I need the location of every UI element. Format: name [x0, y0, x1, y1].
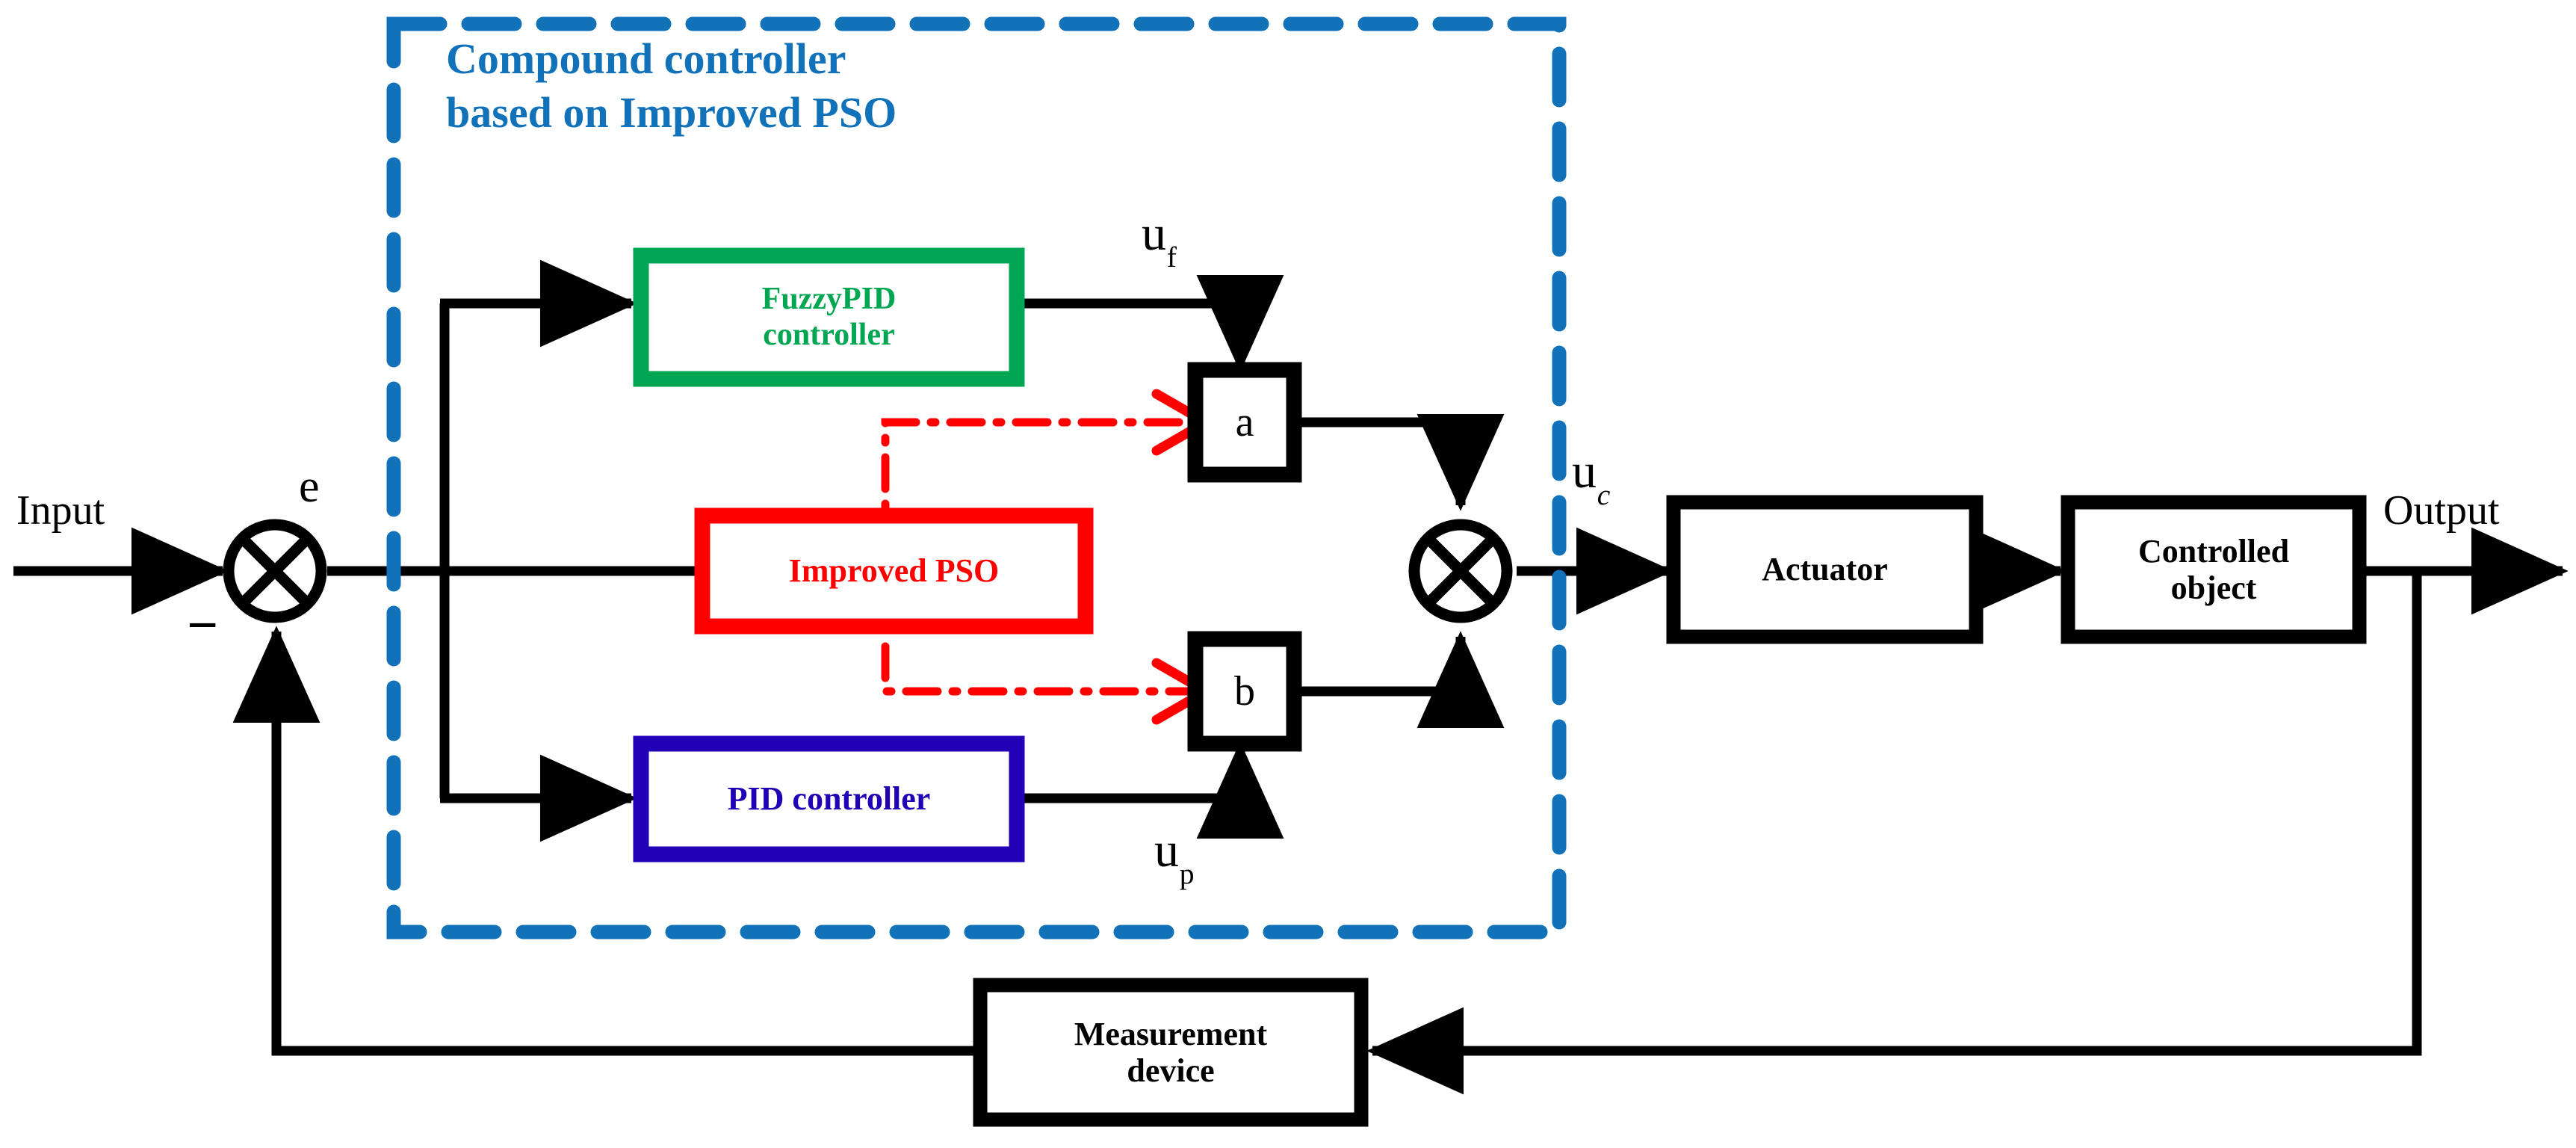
wire-gain-b-to-sum	[1294, 637, 1461, 691]
sum-error-junction	[229, 525, 321, 617]
block-gain-a[interactable]	[1195, 370, 1294, 475]
wire-pid-to-gain-b	[1018, 747, 1240, 798]
signal-label-error: e	[299, 463, 320, 510]
wire-gain-a-to-sum	[1294, 422, 1461, 505]
signal-label-output: Output	[2383, 490, 2500, 531]
uc-subscript: c	[1597, 478, 1611, 511]
uf-base: u	[1142, 206, 1166, 261]
block-diagram-canvas: Compound controller based on Improved PS…	[0, 0, 2576, 1148]
signal-label-uf: uf	[1142, 209, 1176, 266]
signal-label-input: Input	[16, 490, 105, 531]
up-subscript: p	[1180, 857, 1195, 890]
block-measurement-device[interactable]	[980, 985, 1361, 1120]
up-base: u	[1154, 823, 1179, 877]
signal-label-up: up	[1154, 826, 1194, 883]
block-controlled-object[interactable]	[2068, 502, 2359, 637]
sum-control-junction	[1414, 525, 1507, 617]
block-actuator[interactable]	[1674, 502, 1976, 637]
group-title-line-1: Compound controller	[446, 37, 897, 81]
group-title-line-2: based on Improved PSO	[446, 91, 897, 135]
wiring-layer	[0, 0, 2576, 1148]
pso-link-to-gain-b	[885, 646, 1192, 691]
wire-fuzzypid-to-gain-a	[1018, 303, 1240, 366]
block-improved-pso[interactable]	[702, 516, 1086, 626]
block-gain-b[interactable]	[1195, 639, 1294, 744]
uf-subscript: f	[1167, 241, 1177, 274]
block-fuzzypid-controller[interactable]	[641, 256, 1017, 379]
compound-controller-group-title: Compound controller based on Improved PS…	[446, 37, 897, 135]
sum-error-minus-sign: −	[187, 598, 218, 653]
signal-label-uc: uc	[1572, 447, 1610, 504]
uc-base: u	[1572, 444, 1597, 499]
block-pid-controller[interactable]	[641, 744, 1017, 854]
